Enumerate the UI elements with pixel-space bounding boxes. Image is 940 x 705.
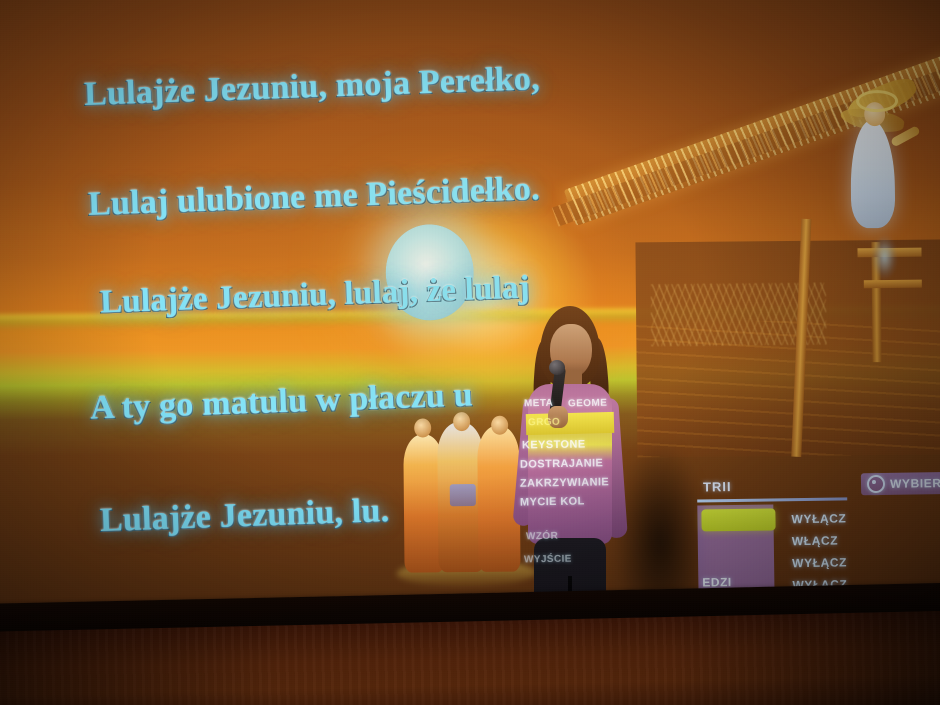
- navigation-wheel-icon: [867, 475, 885, 493]
- osd-value-row[interactable]: WYŁĄCZ: [791, 507, 911, 531]
- lyric-line-5: Lulajże Jezuniu, lu.: [99, 492, 389, 540]
- projected-menu-item: GRGO: [528, 417, 560, 429]
- osd-selected-row-highlight[interactable]: [701, 508, 775, 531]
- projected-menu-item: GEOME: [568, 398, 607, 410]
- projected-menu-item: META: [524, 398, 553, 410]
- lyric-line-2: Lulaj ulubione me Pieścidełko.: [87, 170, 540, 224]
- osd-value-row[interactable]: WŁĄCZ: [792, 529, 912, 553]
- projected-menu-item: DOSTRAJANIE: [520, 457, 603, 470]
- projected-menu-item: MYCIE KOL: [520, 495, 585, 508]
- osd-select-button[interactable]: WYBIERZ: [861, 472, 940, 496]
- projected-menu-item: WYJŚCIE: [524, 554, 572, 566]
- projected-menu-item: ZAKRZYWIANIE: [520, 476, 609, 490]
- screenshot-root: Lulajże Jezuniu, moja Perełko, Lulaj ulu…: [0, 0, 940, 705]
- lyric-line-1: Lulajże Jezuniu, moja Perełko,: [83, 60, 540, 114]
- osd-value-row[interactable]: WYŁĄCZ: [792, 551, 912, 575]
- lyric-line-4: A ty go matulu w płaczu u: [89, 376, 473, 427]
- osd-select-label: WYBIERZ: [890, 476, 940, 491]
- lyric-line-3: Lulajże Jezuniu, lulaj, że lulaj: [99, 270, 530, 322]
- osd-title: TRII: [703, 479, 732, 494]
- projected-menu-item: WZÓR: [526, 531, 558, 543]
- projected-menu-item: KEYSTONE: [522, 438, 586, 451]
